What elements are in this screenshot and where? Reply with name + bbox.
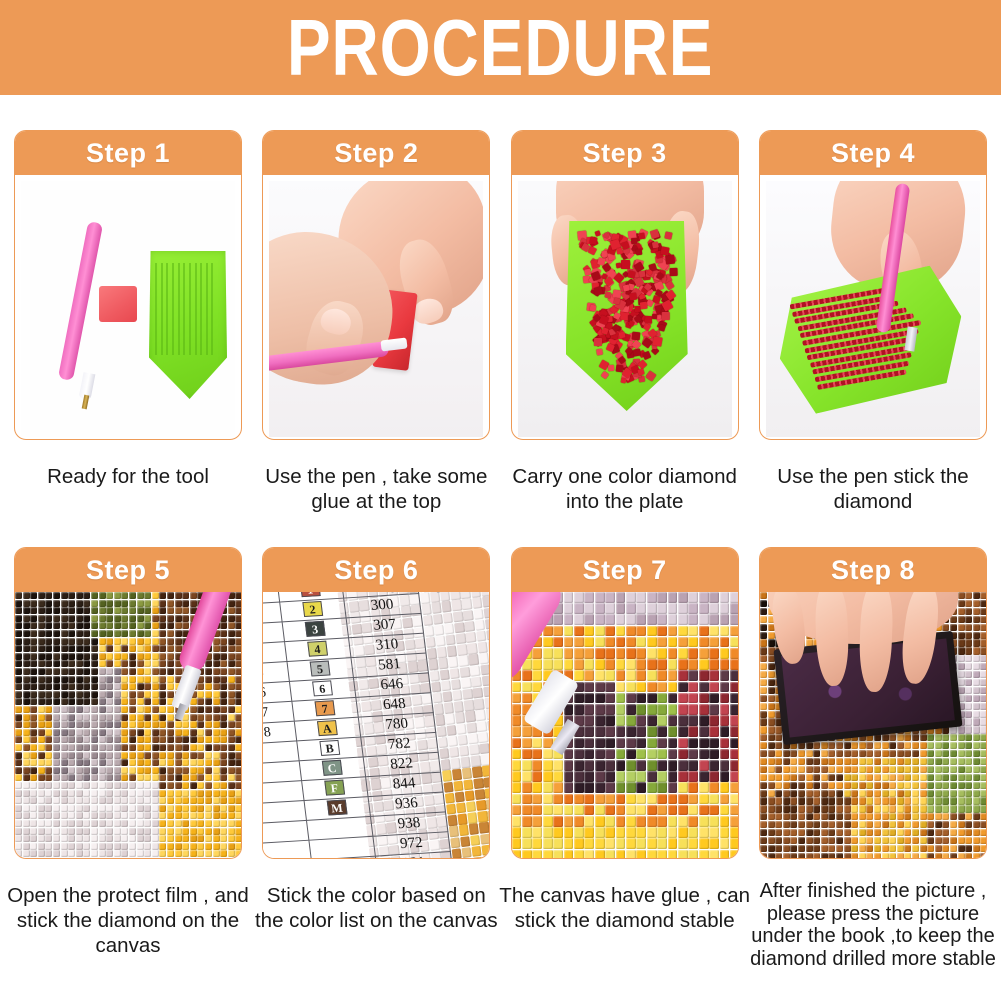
step-card-7: Step 7 bbox=[511, 547, 739, 859]
step-header-5: Step 5 bbox=[15, 548, 241, 592]
chart-symbol-swatch: B bbox=[319, 740, 340, 756]
step-caption-6: Stick the color based on the color list … bbox=[250, 883, 502, 933]
step-card-5: Step 5 bbox=[14, 547, 242, 859]
chart-symbol-swatch: A bbox=[317, 720, 338, 736]
step-cell-1: Step 1 Ready for the tool bbox=[14, 130, 242, 514]
step-image-7 bbox=[512, 592, 738, 859]
step-image-3 bbox=[518, 181, 732, 437]
chart-symbol-swatch: 7 bbox=[315, 700, 336, 716]
chart-symbol-swatch: 1 bbox=[300, 592, 321, 597]
chart-cell-serial bbox=[263, 840, 311, 859]
step-header-6: Step 6 bbox=[263, 548, 489, 592]
chart-cell-symbol bbox=[309, 836, 375, 859]
chart-symbol-swatch: M bbox=[327, 799, 348, 815]
step-header-2: Step 2 bbox=[263, 131, 489, 175]
step-label-3: Step 3 bbox=[583, 138, 667, 169]
step-card-3: Step 3 bbox=[511, 130, 739, 440]
step-caption-8: After finished the picture , please pres… bbox=[742, 880, 1001, 970]
step-card-4: Step 4 bbox=[759, 130, 987, 440]
step-cell-2: Step 2 Use the pen , bbox=[262, 130, 490, 514]
step-header-8: Step 8 bbox=[760, 548, 986, 592]
chart-symbol-swatch: 3 bbox=[305, 621, 326, 637]
step-header-3: Step 3 bbox=[512, 131, 738, 175]
step-header-1: Step 1 bbox=[15, 131, 241, 175]
step-card-1: Step 1 bbox=[14, 130, 242, 440]
page-header-banner: PROCEDURE bbox=[0, 0, 1001, 95]
chart-symbol-swatch: 4 bbox=[307, 641, 328, 657]
step-label-2: Step 2 bbox=[334, 138, 418, 169]
step-label-4: Step 4 bbox=[831, 138, 915, 169]
step-caption-2: Use the pen , take some glue at the top bbox=[250, 464, 502, 514]
step-caption-3: Carry one color diamond into the plate bbox=[499, 464, 751, 514]
step-header-4: Step 4 bbox=[760, 131, 986, 175]
step-image-4 bbox=[766, 181, 980, 437]
step-caption-7: The canvas have glue , can stick the dia… bbox=[499, 883, 751, 933]
step-caption-5: Open the protect film , and stick the di… bbox=[2, 883, 254, 958]
red-diamond-beads bbox=[578, 229, 678, 389]
step-cell-8: Step 8 After finished the picture , plea… bbox=[759, 547, 987, 970]
steps-grid: Step 1 Ready for the tool bbox=[0, 130, 1001, 970]
steps-row-top: Step 1 Ready for the tool bbox=[14, 130, 987, 514]
chart-symbol-swatch: 2 bbox=[302, 601, 323, 617]
chart-col-dmc: DMC bbox=[435, 592, 458, 595]
steps-row-bottom: Step 5 Open the protect film , and stick… bbox=[14, 547, 987, 970]
step-cell-4: Step 4 Use the pen stick the diamond bbox=[759, 130, 987, 514]
step-card-2: Step 2 bbox=[262, 130, 490, 440]
step-cell-7: Step 7 The canvas have glue , can stick … bbox=[511, 547, 739, 970]
chart-symbol-swatch: F bbox=[324, 780, 345, 796]
step-label-5: Step 5 bbox=[86, 555, 170, 586]
chart-symbol-swatch: 6 bbox=[312, 680, 333, 696]
step-label-8: Step 8 bbox=[831, 555, 915, 586]
chart-symbol-swatch: 5 bbox=[310, 661, 331, 677]
chart-symbol-swatch: C bbox=[322, 760, 343, 776]
step-card-8: Step 8 bbox=[759, 547, 987, 859]
step-image-6: Serial Symbol DMC 1122300333074431055581… bbox=[263, 592, 489, 859]
step-image-2 bbox=[269, 181, 483, 437]
step-caption-1: Ready for the tool bbox=[2, 464, 254, 489]
green-tray-icon bbox=[149, 251, 227, 399]
step-card-6: Step 6 Serial Symbol DMC 112230033307443… bbox=[262, 547, 490, 859]
step-cell-6: Step 6 Serial Symbol DMC 112230033307443… bbox=[262, 547, 490, 970]
step-label-1: Step 1 bbox=[86, 138, 170, 169]
step-cell-5: Step 5 Open the protect film , and stick… bbox=[14, 547, 242, 970]
step-image-1 bbox=[21, 181, 235, 437]
step-label-7: Step 7 bbox=[583, 555, 667, 586]
page-title: PROCEDURE bbox=[287, 8, 714, 88]
glue-wax-icon bbox=[99, 286, 137, 322]
step-image-8 bbox=[760, 592, 986, 859]
diamond-pen-icon bbox=[58, 221, 103, 381]
pen-nib-icon bbox=[82, 395, 90, 410]
step-header-7: Step 7 bbox=[512, 548, 738, 592]
step-cell-3: Step 3 Carry one color diamond into the … bbox=[511, 130, 739, 514]
step-label-6: Step 6 bbox=[334, 555, 418, 586]
step-image-5 bbox=[15, 592, 241, 859]
step-caption-4: Use the pen stick the diamond bbox=[747, 464, 999, 514]
